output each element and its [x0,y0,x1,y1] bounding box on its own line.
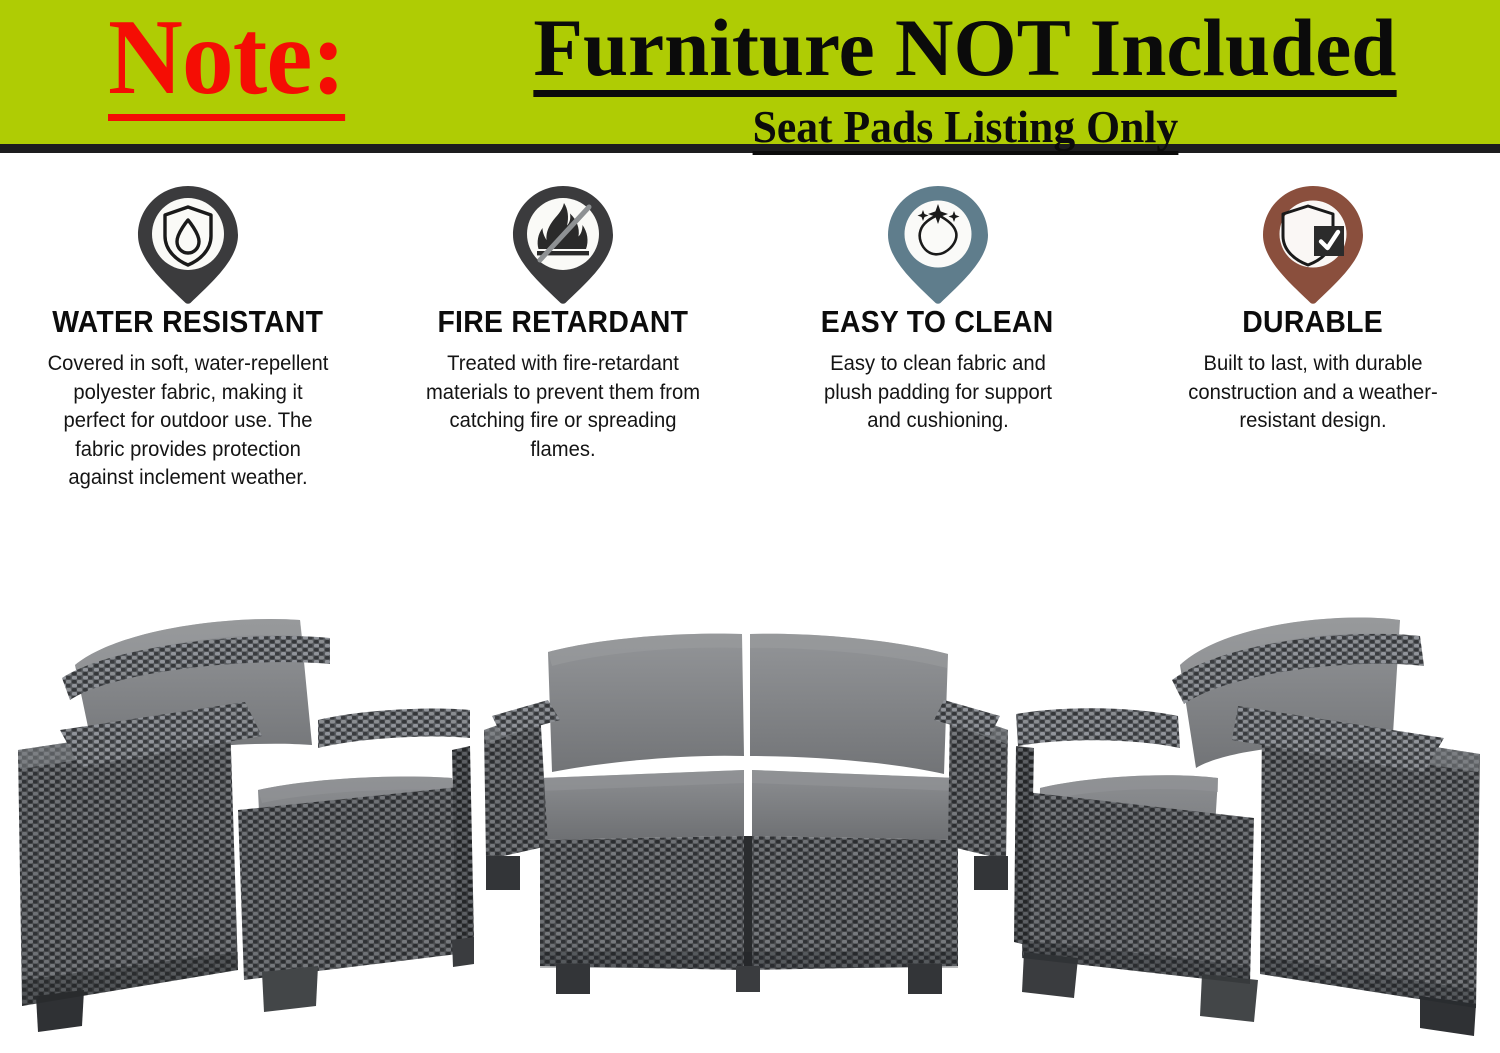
furniture-illustration [0,560,1500,1053]
feature-body: Easy to clean fabric and plush padding f… [810,349,1066,435]
banner-headline: Furniture NOT Included [533,6,1396,97]
pin-wrap [885,162,991,294]
sparkle-cushion-pin-icon [885,184,991,306]
banner-headline-group: Furniture NOT Included Seat Pads Listing… [500,6,1430,155]
feature-title: WATER RESISTANT [52,306,323,338]
feature-fire-retardant: FIRE RETARDANT Treated with fire-retarda… [375,162,750,463]
banner-content: Note: Furniture NOT Included Seat Pads L… [0,0,1500,144]
pin-wrap [510,162,616,294]
feature-title: FIRE RETARDANT [437,306,688,338]
water-shield-droplet-pin-icon [135,184,241,306]
feature-body: Built to last, with durable construction… [1185,349,1441,435]
note-banner: Note: Furniture NOT Included Seat Pads L… [0,0,1500,153]
feature-easy-to-clean: EASY TO CLEAN Easy to clean fabric and p… [750,162,1125,435]
feature-body: Covered in soft, water-repellent polyest… [47,349,329,492]
feature-body: Treated with fire-retardant materials to… [423,349,701,463]
banner-subheadline: Seat Pads Listing Only [752,104,1178,155]
note-label: Note: [108,4,345,121]
no-fire-flame-pin-icon [510,184,616,306]
feature-row: WATER RESISTANT Covered in soft, water-r… [0,162,1500,562]
feature-title: DURABLE [1242,306,1383,338]
shield-check-pin-icon [1260,184,1366,306]
furniture-set-photo [0,560,1500,1053]
pin-wrap [135,162,241,294]
feature-water-resistant: WATER RESISTANT Covered in soft, water-r… [0,162,375,492]
feature-title: EASY TO CLEAN [821,306,1054,338]
pin-wrap [1260,162,1366,294]
feature-durable: DURABLE Built to last, with durable cons… [1125,162,1500,435]
